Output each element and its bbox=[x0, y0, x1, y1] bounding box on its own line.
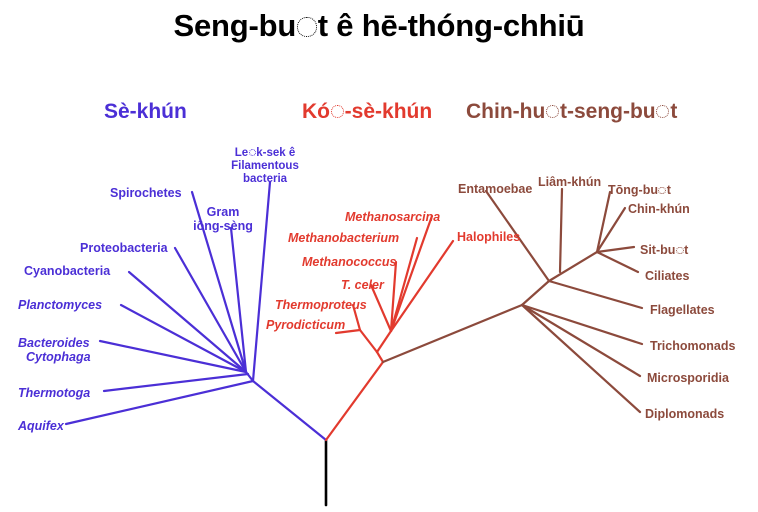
taxon-label-bacteroides-cytophaga: Bacteroides Cytophaga bbox=[18, 336, 91, 364]
taxon-label-slime-molds: Liâm-khún bbox=[538, 175, 601, 189]
branch-eukaryota-internal-1 bbox=[522, 281, 549, 305]
branch-aquifex bbox=[66, 381, 253, 424]
branch-microsporidia bbox=[522, 305, 640, 376]
branch-crenarchaeota-stem bbox=[360, 330, 377, 352]
taxon-label-planctomyces: Planctomyces bbox=[18, 298, 102, 312]
taxon-label-gram-positive: Gram iông-sèng bbox=[186, 205, 260, 233]
missing-glyph-icon bbox=[676, 247, 684, 255]
animals-prefix: Tōng-bu bbox=[608, 183, 658, 197]
taxon-label-fungi: Chin-khún bbox=[628, 202, 690, 216]
taxon-label-thermotoga: Thermotoga bbox=[18, 386, 90, 400]
green-filamentous-line-1: Lek-sek ê bbox=[217, 147, 313, 160]
taxon-label-diplomonads: Diplomonads bbox=[645, 407, 724, 421]
taxon-label-pyrodicticum: Pyrodicticum bbox=[266, 318, 345, 332]
phylogenetic-tree-figure: Seng-but ê hē-thóng-chhiū Sè-khún Kó-sè-… bbox=[0, 0, 758, 512]
branch-archaea-trunk bbox=[326, 362, 383, 440]
green-filamentous-line-3: bacteria bbox=[217, 173, 313, 186]
taxon-label-proteobacteria: Proteobacteria bbox=[80, 241, 168, 255]
branch-bacteria-trunk bbox=[253, 381, 326, 440]
bacteroides-line-2: Cytophaga bbox=[18, 350, 91, 364]
branch-halophiles bbox=[391, 241, 453, 331]
taxon-label-t-celer: T. celer bbox=[341, 278, 384, 292]
animals-suffix: t bbox=[667, 183, 671, 197]
branch-ciliates bbox=[597, 252, 638, 272]
taxon-label-thermoproteus: Thermoproteus bbox=[275, 298, 367, 312]
taxon-label-cyanobacteria: Cyanobacteria bbox=[24, 264, 110, 278]
branch-archaea-internal-1 bbox=[377, 352, 383, 362]
gram-line-2: iông-sèng bbox=[186, 219, 260, 233]
branch-thermotoga bbox=[104, 374, 248, 391]
plants-prefix: Sit-bu bbox=[640, 243, 675, 257]
branch-plants bbox=[597, 247, 634, 252]
taxon-label-halophiles: Halophiles bbox=[457, 230, 520, 244]
taxon-label-ciliates: Ciliates bbox=[645, 269, 689, 283]
branch-cyanobacteria bbox=[129, 272, 246, 372]
branch-flagellates bbox=[549, 281, 642, 308]
taxon-label-green-filamentous-bacteria: Lek-sek ê Filamentous bacteria bbox=[217, 147, 313, 186]
taxon-label-animals: Tōng-but bbox=[608, 183, 671, 197]
taxon-label-aquifex: Aquifex bbox=[18, 419, 64, 433]
missing-glyph-icon bbox=[658, 187, 666, 195]
green-filamentous-line-2: Filamentous bbox=[217, 160, 313, 173]
missing-glyph-icon bbox=[249, 149, 256, 156]
branch-euryarchaeota-stem bbox=[377, 331, 391, 352]
taxon-label-methanococcus: Methanococcus bbox=[302, 255, 396, 269]
taxon-label-spirochetes: Spirochetes bbox=[110, 186, 182, 200]
gram-line-1: Gram bbox=[186, 205, 260, 219]
taxon-label-methanobacterium: Methanobacterium bbox=[288, 231, 399, 245]
bacteroides-line-1: Bacteroides bbox=[18, 336, 91, 350]
plants-suffix: t bbox=[684, 243, 688, 257]
branch-diplomonads bbox=[522, 305, 640, 412]
taxon-label-flagellates: Flagellates bbox=[650, 303, 715, 317]
branch-eukaryota-internal-2 bbox=[549, 252, 597, 281]
taxon-label-entamoebae: Entamoebae bbox=[458, 182, 532, 196]
taxon-label-methanosarcina: Methanosarcina bbox=[345, 210, 440, 224]
branch-slime-molds bbox=[560, 189, 562, 272]
taxon-label-plants: Sit-but bbox=[640, 243, 688, 257]
branch-trichomonads bbox=[522, 305, 642, 344]
branch-bacteroides-cytophaga bbox=[100, 341, 246, 372]
taxon-label-trichomonads: Trichomonads bbox=[650, 339, 735, 353]
taxon-label-microsporidia: Microsporidia bbox=[647, 371, 729, 385]
